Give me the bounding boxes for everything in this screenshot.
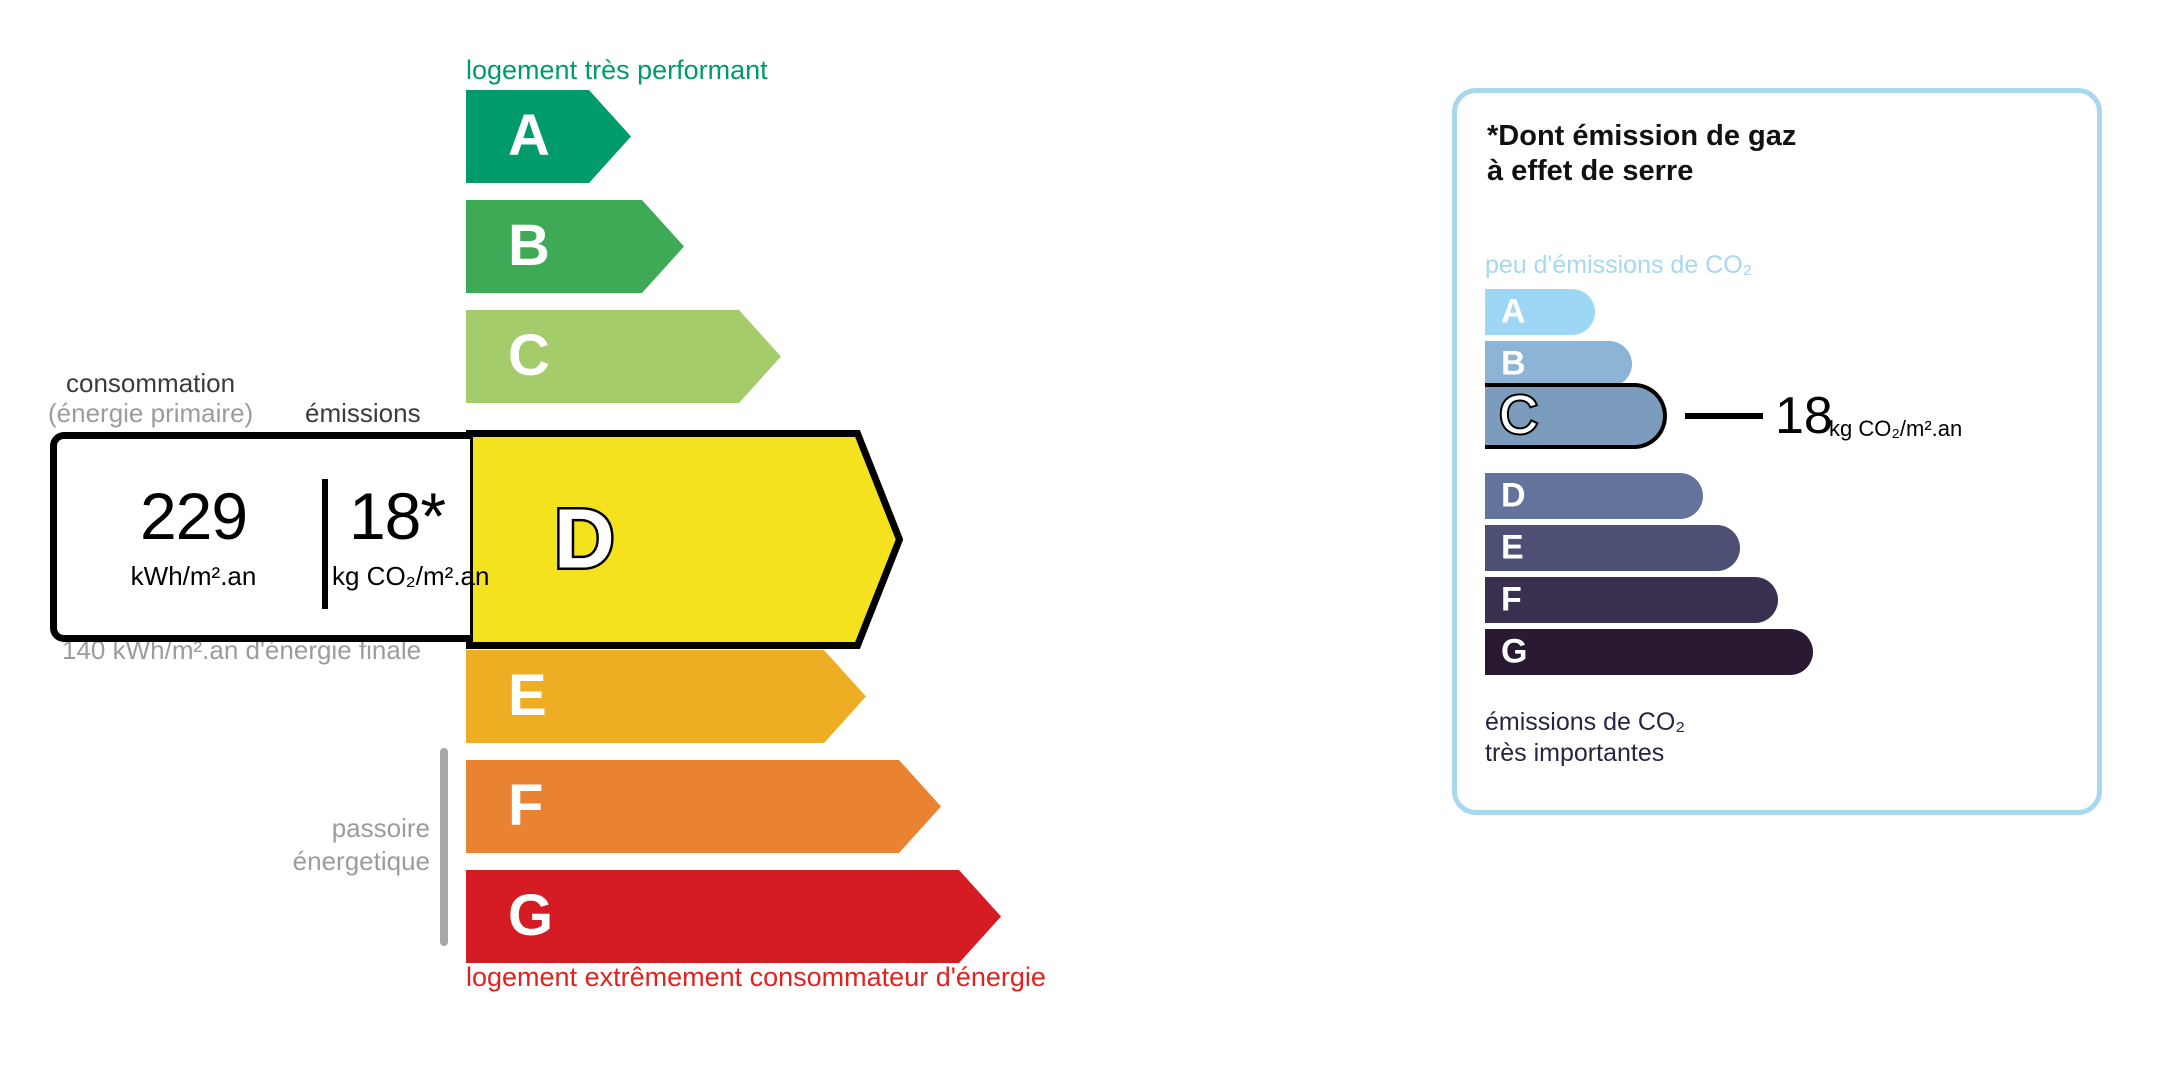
consumption-value-box: 229 kWh/m².an 18* kg CO₂/m².an	[50, 432, 470, 642]
energy-performance-scale: logement très performant ABCDEFG 229 kWh…	[0, 0, 1400, 1079]
energy-band-shape-d	[466, 430, 903, 649]
passoire-label: passoire énergetique	[250, 812, 430, 879]
energy-band-f: F	[466, 760, 941, 853]
label-consommation: consommation	[66, 368, 235, 399]
ghg-bar-e: E	[1485, 525, 1740, 571]
energy-band-letter-c: C	[508, 326, 550, 384]
energy-band-letter-a: A	[508, 106, 550, 164]
ghg-callout-line	[1685, 413, 1763, 419]
primary-energy-cell: 229 kWh/m².an	[71, 483, 316, 592]
ghg-callout-value: 18	[1775, 390, 1833, 442]
ghg-bar-letter-c: C	[1499, 388, 1538, 442]
ghg-bar-letter-b: B	[1501, 346, 1526, 380]
ghg-bar-letter-f: F	[1501, 582, 1522, 616]
ghg-bottom-caption: émissions de CO₂ très importantes	[1485, 707, 1685, 769]
ghg-bar-letter-a: A	[1501, 294, 1526, 328]
ghg-bar-b: B	[1485, 341, 1632, 387]
ghg-bar-letter-d: D	[1501, 478, 1526, 512]
ghg-bar-letter-g: G	[1501, 634, 1527, 668]
energy-band-d: D	[466, 430, 903, 649]
energy-band-e: E	[466, 650, 866, 743]
ghg-panel-title: *Dont émission de gaz à effet de serre	[1487, 119, 1796, 190]
ghg-bar-f: F	[1485, 577, 1778, 623]
energy-band-c: C	[466, 310, 781, 403]
label-emissions: émissions	[305, 398, 421, 429]
scale-top-caption: logement très performant	[466, 55, 768, 86]
emission-value-cell: 18* kg CO₂/m².an	[332, 483, 462, 592]
ghg-bar-g: G	[1485, 629, 1813, 675]
energy-band-letter-f: F	[508, 776, 543, 834]
energy-band-b: B	[466, 200, 684, 293]
passoire-bracket	[440, 748, 448, 946]
ghg-emission-panel: *Dont émission de gaz à effet de serre p…	[1452, 88, 2102, 815]
energy-band-a: A	[466, 90, 631, 183]
primary-energy-unit: kWh/m².an	[71, 561, 316, 592]
emission-unit: kg CO₂/m².an	[332, 561, 462, 592]
label-energie-primaire: (énergie primaire)	[48, 398, 253, 429]
energy-band-letter-e: E	[508, 666, 547, 724]
primary-energy-value: 229	[71, 483, 316, 549]
scale-bottom-caption: logement extrêmement consommateur d'éner…	[466, 962, 1046, 993]
energy-band-letter-b: B	[508, 216, 550, 274]
emission-value: 18*	[332, 483, 462, 549]
ghg-bar-c: C	[1485, 383, 1667, 449]
dpe-diagram: logement très performant ABCDEFG 229 kWh…	[0, 0, 2169, 1079]
ghg-bar-d: D	[1485, 473, 1703, 519]
ghg-bar-a: A	[1485, 289, 1595, 335]
energy-band-shape-b	[466, 200, 684, 293]
energy-band-g: G	[466, 870, 1001, 963]
ghg-bar-letter-e: E	[1501, 530, 1524, 564]
ghg-callout-unit: kg CO₂/m².an	[1829, 418, 1962, 440]
value-divider	[322, 479, 328, 609]
ghg-top-caption: peu d'émissions de CO₂	[1485, 251, 1752, 280]
energy-band-letter-d: D	[554, 496, 615, 580]
energy-band-letter-g: G	[508, 886, 553, 944]
